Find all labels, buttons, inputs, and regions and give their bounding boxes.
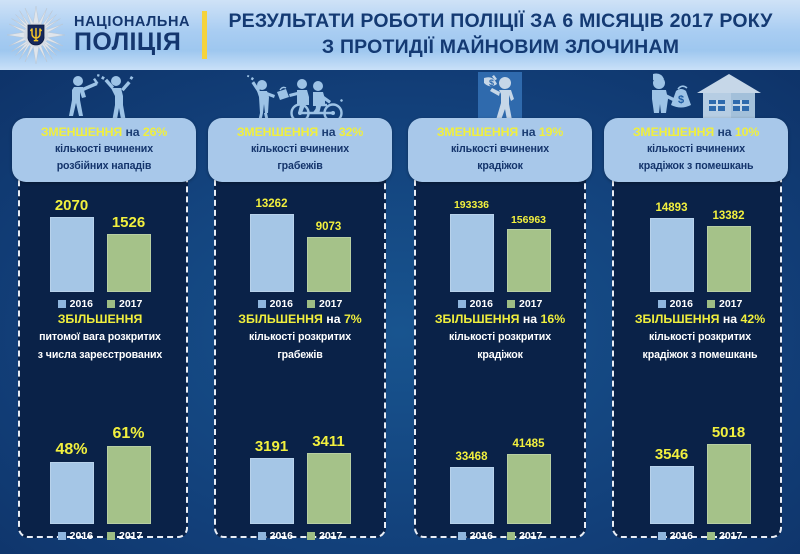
caption-sub-line2: з числа зареєстрованих [6, 348, 194, 364]
bar-unit-2017: 9073 [307, 222, 351, 293]
bar-unit-2016: 2070 [50, 198, 94, 292]
caption-increase: ЗБІЛЬШЕННЯ на 42% кількості розкритих кр… [606, 312, 794, 364]
legend-label-2016: 2016 [470, 530, 493, 542]
bar-2017 [107, 234, 151, 292]
legend-label-2016: 2016 [470, 298, 493, 310]
caption-percent: 7% [344, 312, 362, 326]
legend-item-2016: 2016 [658, 298, 693, 310]
legend-item-2016: 2016 [58, 530, 93, 542]
caption-increase-head: ЗБІЛЬШЕННЯ [6, 312, 194, 327]
bars: 33468 41485 [441, 432, 559, 524]
caption-sub-line1: питомої вага розкритих [6, 330, 194, 346]
caption-percent: 19% [539, 125, 563, 139]
legend-label-2017: 2017 [319, 530, 342, 542]
bar-value-2016: 3191 [255, 439, 288, 454]
bar-2016 [250, 458, 294, 524]
caption-keyword: ЗМЕНШЕННЯ [41, 125, 122, 139]
legend-label-2017: 2017 [719, 530, 742, 542]
bar-value-2016: 33468 [456, 452, 488, 464]
legend-swatch-2017 [707, 300, 715, 308]
bars: 193336 156963 [441, 200, 559, 292]
legend-label-2017: 2017 [319, 298, 342, 310]
legend-item-2017: 2017 [507, 530, 542, 542]
legend-swatch-2016 [658, 532, 666, 540]
bar-unit-2016: 14893 [650, 203, 694, 293]
caption-increase-head: ЗБІЛЬШЕННЯ на 16% [406, 312, 594, 327]
brand-name: НАЦІОНАЛЬНА ПОЛІЦІЯ [72, 15, 200, 56]
bar-2016 [650, 218, 694, 292]
chart-decrease: 193336 156963 2016 2017 [400, 190, 600, 310]
chart-increase: 48% 61% 2016 2017 [0, 422, 200, 542]
caption-keyword: ЗБІЛЬШЕННЯ [238, 312, 323, 326]
caption-sub-line1: кількості розкритих [606, 330, 794, 346]
caption-sub-line1: кількості розкритих [406, 330, 594, 346]
legend-swatch-2016 [458, 300, 466, 308]
chart-legend: 2016 2017 [58, 530, 143, 542]
legend-label-2016: 2016 [70, 530, 93, 542]
legend-swatch-2016 [58, 300, 66, 308]
column-theft: $ ЗМЕНШЕННЯ на 19% кількості вчинених кр… [400, 70, 600, 554]
caption-na: на [521, 125, 535, 139]
bars: 3546 5018 [641, 432, 759, 524]
caption-decrease-head: ЗМЕНШЕННЯ на 32% [212, 125, 388, 140]
caption-decrease: ЗМЕНШЕННЯ на 32% кількості вчинених граб… [208, 118, 392, 182]
caption-sub-line2: крадіжок з помешкань [606, 348, 794, 364]
legend-swatch-2016 [458, 532, 466, 540]
caption-decrease: ЗМЕНШЕННЯ на 26% кількості вчинених розб… [12, 118, 196, 182]
page-title-line1: РЕЗУЛЬТАТИ РОБОТИ ПОЛІЦІЇ ЗА 6 МІСЯЦІВ 2… [219, 9, 782, 35]
bar-value-2017: 13382 [713, 211, 745, 223]
bar-2017 [707, 226, 751, 292]
chart-legend: 2016 2017 [458, 298, 543, 310]
bar-unit-2017: 13382 [707, 211, 751, 293]
bar-2017 [507, 229, 551, 292]
bar-2016 [50, 217, 94, 292]
bar-unit-2016: 3191 [250, 439, 294, 524]
legend-label-2017: 2017 [119, 530, 142, 542]
bar-2017 [307, 453, 351, 524]
legend-label-2017: 2017 [519, 530, 542, 542]
svg-text:$: $ [489, 78, 494, 88]
caption-sub-line2: крадіжок [412, 159, 588, 174]
bar-value-2016: 193336 [454, 200, 489, 211]
caption-percent: 26% [143, 125, 167, 139]
legend-item-2017: 2017 [307, 530, 342, 542]
legend-swatch-2017 [107, 300, 115, 308]
caption-increase: ЗБІЛЬШЕННЯ питомої вага розкритих з числ… [6, 312, 194, 364]
bar-value-2017: 3411 [312, 434, 345, 449]
legend-swatch-2017 [107, 532, 115, 540]
bar-value-2016: 2070 [55, 198, 88, 213]
chart-legend: 2016 2017 [258, 298, 343, 310]
legend-item-2017: 2017 [107, 298, 142, 310]
caption-sub-line2: розбійних нападів [16, 159, 192, 174]
bar-value-2016: 3546 [655, 447, 688, 462]
police-star-emblem-icon [6, 5, 66, 65]
column-robbery-assault: ЗМЕНШЕННЯ на 26% кількості вчинених розб… [0, 70, 200, 554]
caption-keyword: ЗМЕНШЕННЯ [437, 125, 518, 139]
caption-na: на [125, 125, 139, 139]
bar-unit-2016: 33468 [450, 452, 494, 525]
legend-item-2016: 2016 [458, 530, 493, 542]
page-title: РЕЗУЛЬТАТИ РОБОТИ ПОЛІЦІЇ ЗА 6 МІСЯЦІВ 2… [219, 9, 800, 60]
bar-value-2017: 5018 [712, 425, 745, 440]
caption-keyword: ЗБІЛЬШЕННЯ [635, 312, 720, 326]
bar-unit-2017: 156963 [507, 215, 551, 293]
legend-item-2016: 2016 [258, 530, 293, 542]
legend-item-2017: 2017 [107, 530, 142, 542]
legend-swatch-2017 [507, 532, 515, 540]
legend-label-2017: 2017 [119, 298, 142, 310]
chart-increase: 3546 5018 2016 2017 [600, 422, 800, 542]
legend-swatch-2016 [258, 532, 266, 540]
bar-2016 [650, 466, 694, 524]
chart-legend: 2016 2017 [258, 530, 343, 542]
legend-item-2017: 2017 [307, 298, 342, 310]
legend-item-2017: 2017 [707, 530, 742, 542]
bar-unit-2017: 61% [107, 426, 151, 524]
bar-unit-2016: 193336 [450, 200, 494, 293]
caption-sub-line2: крадіжок [406, 348, 594, 364]
chart-decrease: 13262 9073 2016 2017 [200, 190, 400, 310]
caption-sub-line1: кількості розкритих [206, 330, 394, 346]
bar-value-2016: 13262 [256, 199, 288, 211]
chart-legend: 2016 2017 [458, 530, 543, 542]
caption-decrease-head: ЗМЕНШЕННЯ на 19% [412, 125, 588, 140]
caption-sub-line1: кількості вчинених [608, 142, 784, 157]
legend-label-2016: 2016 [670, 298, 693, 310]
caption-increase-head: ЗБІЛЬШЕННЯ на 42% [606, 312, 794, 327]
header-divider [202, 11, 207, 59]
caption-keyword: ЗМЕНШЕННЯ [633, 125, 714, 139]
legend-swatch-2017 [307, 300, 315, 308]
bars: 14893 13382 [641, 200, 759, 292]
legend-swatch-2017 [507, 300, 515, 308]
caption-percent: 16% [541, 312, 566, 326]
logo-wrap [0, 1, 72, 69]
legend-swatch-2016 [658, 300, 666, 308]
caption-na: на [326, 312, 340, 326]
bar-unit-2017: 1526 [107, 215, 151, 292]
caption-decrease-head: ЗМЕНШЕННЯ на 10% [608, 125, 784, 140]
bar-unit-2016: 3546 [650, 447, 694, 524]
caption-keyword: ЗМЕНШЕННЯ [237, 125, 318, 139]
bar-2017 [507, 454, 551, 524]
legend-swatch-2016 [258, 300, 266, 308]
bar-2017 [707, 444, 751, 524]
caption-sub-line1: кількості вчинених [16, 142, 192, 157]
legend-item-2016: 2016 [658, 530, 693, 542]
bar-value-2017: 156963 [511, 215, 546, 226]
legend-label-2017: 2017 [519, 298, 542, 310]
columns-container: ЗМЕНШЕННЯ на 26% кількості вчинених розб… [0, 70, 800, 554]
caption-keyword: ЗБІЛЬШЕННЯ [58, 312, 143, 326]
legend-item-2017: 2017 [507, 298, 542, 310]
legend-swatch-2016 [58, 532, 66, 540]
bar-2016 [250, 214, 294, 292]
bar-value-2016: 48% [55, 442, 87, 458]
legend-item-2016: 2016 [58, 298, 93, 310]
burglar-house-icon: $ [635, 72, 765, 124]
bar-unit-2016: 48% [50, 442, 94, 524]
caption-increase-head: ЗБІЛЬШЕННЯ на 7% [206, 312, 394, 327]
legend-swatch-2017 [307, 532, 315, 540]
chart-decrease: 2070 1526 2016 2017 [0, 190, 200, 310]
caption-increase: ЗБІЛЬШЕННЯ на 16% кількості розкритих кр… [406, 312, 594, 364]
bars: 13262 9073 [241, 200, 359, 292]
brand-line2: ПОЛІЦІЯ [74, 30, 190, 55]
page-title-line2: З ПРОТИДІЇ МАЙНОВИМ ЗЛОЧИНАМ [219, 35, 782, 61]
bar-unit-2017: 3411 [307, 434, 351, 524]
legend-label-2017: 2017 [719, 298, 742, 310]
legend-item-2016: 2016 [458, 298, 493, 310]
thief-with-sack-icon: $ [470, 72, 530, 124]
caption-percent: 32% [339, 125, 363, 139]
bar-unit-2016: 13262 [250, 199, 294, 293]
caption-na: на [523, 312, 537, 326]
caption-keyword: ЗБІЛЬШЕННЯ [435, 312, 520, 326]
caption-decrease: ЗМЕНШЕННЯ на 10% кількості вчинених крад… [604, 118, 788, 182]
caption-sub-line2: крадіжок з помешкань [608, 159, 784, 174]
bar-2017 [107, 446, 151, 524]
caption-sub-line1: кількості вчинених [212, 142, 388, 157]
bar-unit-2017: 41485 [507, 439, 551, 525]
legend-label-2016: 2016 [270, 530, 293, 542]
bars: 3191 3411 [241, 432, 359, 524]
caption-na: на [723, 312, 737, 326]
chart-decrease: 14893 13382 2016 2017 [600, 190, 800, 310]
legend-item-2017: 2017 [707, 298, 742, 310]
caption-increase: ЗБІЛЬШЕННЯ на 7% кількості розкритих гра… [206, 312, 394, 364]
caption-sub-line2: грабежів [206, 348, 394, 364]
bar-2016 [450, 214, 494, 292]
chart-increase: 3191 3411 2016 2017 [200, 422, 400, 542]
bars: 48% 61% [41, 432, 159, 524]
bar-2016 [450, 467, 494, 524]
legend-label-2016: 2016 [270, 298, 293, 310]
caption-decrease: ЗМЕНШЕННЯ на 19% кількості вчинених крад… [408, 118, 592, 182]
svg-text:$: $ [678, 94, 684, 106]
chart-legend: 2016 2017 [658, 298, 743, 310]
chart-legend: 2016 2017 [58, 298, 143, 310]
bar-2016 [50, 462, 94, 524]
column-robbery-snatch: ЗМЕНШЕННЯ на 32% кількості вчинених граб… [200, 70, 400, 554]
bars: 2070 1526 [41, 200, 159, 292]
legend-item-2016: 2016 [258, 298, 293, 310]
bar-value-2017: 1526 [112, 215, 145, 230]
caption-decrease-head: ЗМЕНШЕННЯ на 26% [16, 125, 192, 140]
caption-sub-line2: грабежів [212, 159, 388, 174]
caption-percent: 10% [735, 125, 759, 139]
legend-swatch-2017 [707, 532, 715, 540]
brand-line1: НАЦІОНАЛЬНА [74, 15, 190, 30]
chart-legend: 2016 2017 [658, 530, 743, 542]
legend-label-2016: 2016 [70, 298, 93, 310]
caption-percent: 42% [741, 312, 766, 326]
bar-unit-2017: 5018 [707, 425, 751, 524]
bar-value-2017: 61% [112, 426, 144, 442]
robbery-motorbike-icon [240, 72, 360, 124]
caption-sub-line1: кількості вчинених [412, 142, 588, 157]
robbery-assault-icon [54, 72, 146, 124]
chart-increase: 33468 41485 2016 2017 [400, 422, 600, 542]
legend-label-2016: 2016 [670, 530, 693, 542]
page-header: НАЦІОНАЛЬНА ПОЛІЦІЯ РЕЗУЛЬТАТИ РОБОТИ ПО… [0, 0, 800, 70]
bar-value-2017: 41485 [513, 439, 545, 451]
bar-2017 [307, 237, 351, 292]
column-burglary: $ [600, 70, 800, 554]
bar-value-2016: 14893 [656, 203, 688, 215]
caption-na: на [321, 125, 335, 139]
bar-value-2017: 9073 [316, 222, 342, 234]
caption-na: на [717, 125, 731, 139]
